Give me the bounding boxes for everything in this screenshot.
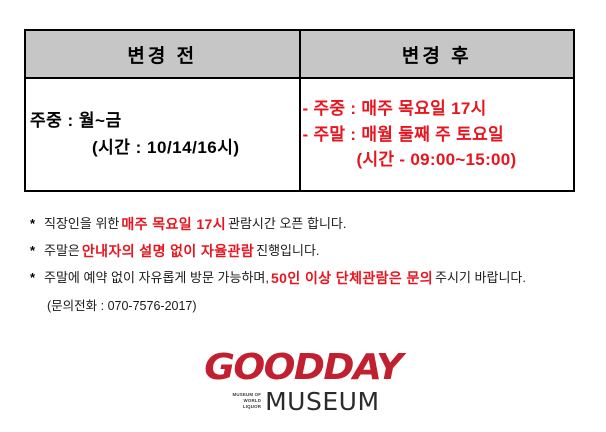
table-header-row: 변경 전 변경 후 bbox=[25, 30, 574, 78]
museum-logo: GOODDAY MUSEUM OF WORLD LIQUOR MUSEUM bbox=[0, 350, 606, 416]
table-body-row: 주중 : 월~금 (시간 : 10/14/16시) - 주중 : 매주 목요일 … bbox=[25, 78, 574, 191]
note-item-1: * 직장인을 위한 매주 목요일 17시 관람시간 오픈 합니다. bbox=[30, 210, 586, 237]
after-schedule-weekday: - 주중 : 매주 목요일 17시 bbox=[301, 96, 574, 122]
note-1-post: 관람시간 오픈 합니다. bbox=[228, 217, 346, 230]
note-1-highlight: 매주 목요일 17시 bbox=[119, 217, 228, 231]
logo-secondary-row: MUSEUM OF WORLD LIQUOR MUSEUM bbox=[226, 389, 379, 414]
note-item-3: * 주말에 예약 없이 자유롭게 방문 가능하며, 50인 이상 단체관람은 문… bbox=[30, 264, 586, 291]
note-item-2: * 주말은 안내자의 설명 없이 자율관람 진행입니다. bbox=[30, 237, 586, 264]
comparison-table-wrapper: 변경 전 변경 후 주중 : 월~금 (시간 : 10/14/16시) - 주중… bbox=[24, 29, 575, 190]
bullet-star-icon: * bbox=[30, 244, 44, 257]
logo-tagline-line3: LIQUOR bbox=[232, 404, 261, 410]
logo-wordmark-goodday: GOODDAY bbox=[204, 350, 401, 386]
before-schedule-weekday: 주중 : 월~금 bbox=[26, 108, 299, 134]
header-label-after: 변경 후 bbox=[402, 46, 472, 67]
bullet-star-icon: * bbox=[30, 271, 44, 284]
note-3-highlight: 50인 이상 단체관람은 문의 bbox=[269, 271, 435, 285]
bullet-star-icon: * bbox=[30, 217, 44, 230]
before-schedule-hours: (시간 : 10/14/16시) bbox=[26, 135, 299, 161]
note-3-pre: 주말에 예약 없이 자유롭게 방문 가능하며, bbox=[44, 271, 269, 284]
logo-tagline: MUSEUM OF WORLD LIQUOR bbox=[232, 392, 265, 414]
after-schedule-weekend: - 주말 : 매월 둘째 주 토요일 bbox=[301, 122, 574, 148]
header-label-before: 변경 전 bbox=[127, 46, 197, 67]
header-cell-after: 변경 후 bbox=[300, 30, 575, 78]
note-1-pre: 직장인을 위한 bbox=[44, 217, 119, 230]
note-3-post: 주시기 바랍니다. bbox=[435, 271, 526, 284]
note-2-highlight: 안내자의 설명 없이 자율관람 bbox=[80, 244, 256, 258]
body-cell-after: - 주중 : 매주 목요일 17시 - 주말 : 매월 둘째 주 토요일 (시간… bbox=[300, 78, 575, 191]
after-schedule-hours: (시간 - 09:00~15:00) bbox=[301, 147, 574, 173]
header-cell-before: 변경 전 bbox=[25, 30, 300, 78]
body-cell-before: 주중 : 월~금 (시간 : 10/14/16시) bbox=[25, 78, 300, 191]
logo-museum-word: MUSEUM bbox=[265, 389, 379, 414]
contact-phone-line: (문의전화 : 070-7576-2017) bbox=[30, 291, 586, 317]
note-2-post: 진행입니다. bbox=[256, 244, 319, 257]
comparison-table: 변경 전 변경 후 주중 : 월~금 (시간 : 10/14/16시) - 주중… bbox=[24, 29, 575, 192]
notes-list: * 직장인을 위한 매주 목요일 17시 관람시간 오픈 합니다. * 주말은 … bbox=[30, 210, 586, 317]
note-2-pre: 주말은 bbox=[44, 244, 80, 257]
